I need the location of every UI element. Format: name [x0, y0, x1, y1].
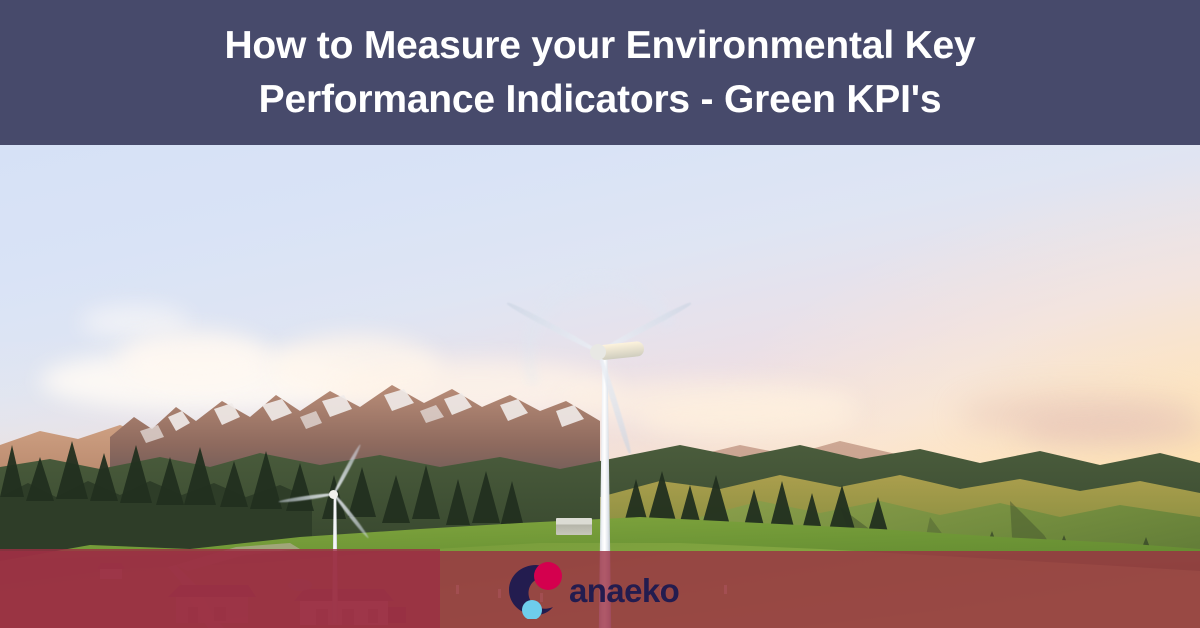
turbine-hub — [329, 490, 338, 499]
page-title-line-2: Performance Indicators - Green KPI's — [259, 78, 942, 121]
turbine-service-hut — [556, 518, 592, 535]
header-bar: How to Measure your Environmental Key Pe… — [0, 0, 1200, 145]
anaeko-logo-mark — [505, 559, 567, 619]
anaeko-wordmark: anaeko — [569, 574, 679, 607]
turbine-blade — [332, 493, 370, 540]
logo-circle-pink — [534, 562, 562, 590]
page-title-line-1: How to Measure your Environmental Key — [224, 24, 975, 67]
anaeko-logo[interactable]: anaeko — [505, 558, 705, 620]
logo-mark-svg — [505, 559, 567, 619]
promo-banner: How to Measure your Environmental Key Pe… — [0, 0, 1200, 628]
turbine-hub — [590, 344, 606, 360]
page-title: How to Measure your Environmental Key Pe… — [100, 19, 1100, 127]
